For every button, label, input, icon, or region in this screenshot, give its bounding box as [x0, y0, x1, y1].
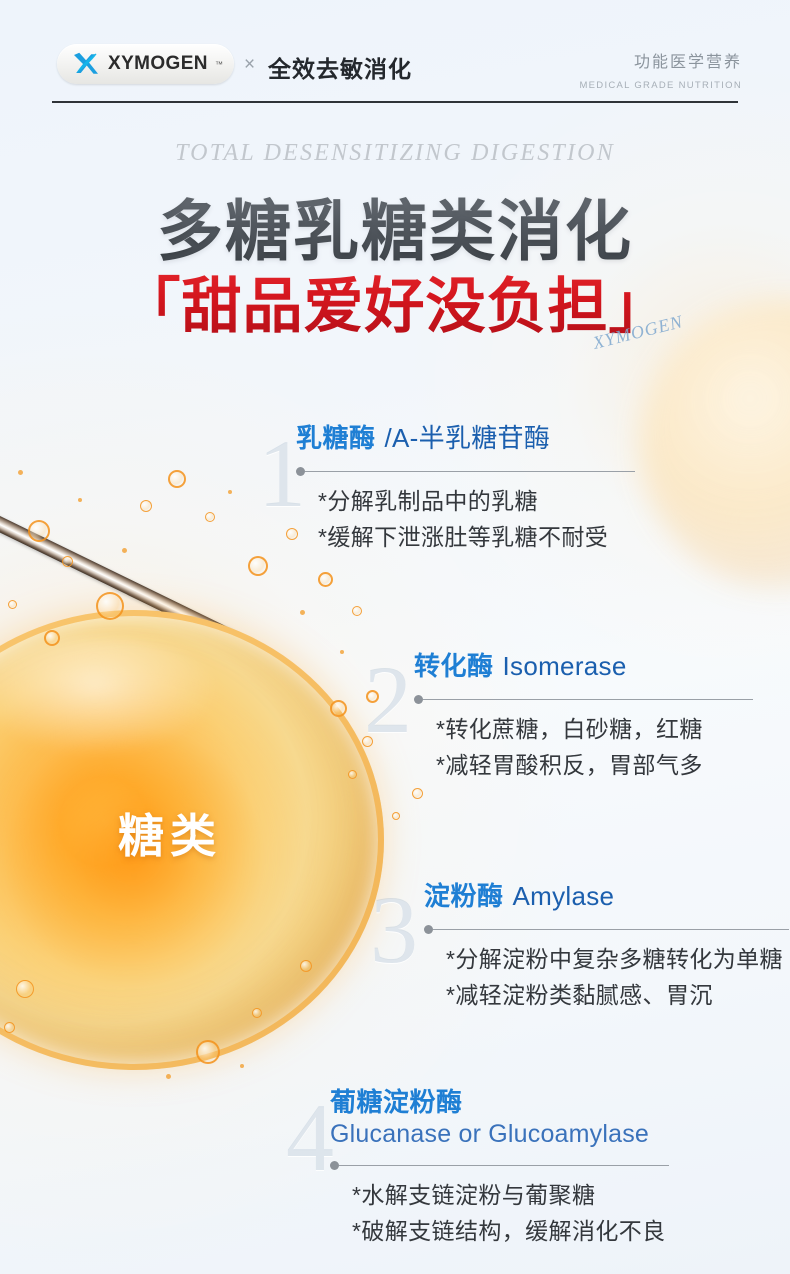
- bubble-decoration: [122, 548, 127, 553]
- enzyme-title-2: 转化酶 Isomerase: [414, 646, 703, 683]
- enzyme-title-1: 乳糖酶 /A-半乳糖苷酶: [296, 418, 608, 455]
- enzyme-divider-3: [424, 922, 783, 934]
- xymogen-logo-text: XYMOGEN: [108, 53, 208, 75]
- enzyme-bullet: *水解支链淀粉与葡聚糖: [352, 1178, 666, 1214]
- enzyme-bullet: *减轻胃酸积反，胃部气多: [436, 748, 703, 784]
- divider-line: [339, 1165, 669, 1166]
- bubble-decoration: [166, 1074, 171, 1079]
- bubble-decoration: [412, 788, 423, 799]
- honey-sphere-highlight: [0, 636, 220, 756]
- bubble-decoration: [4, 1022, 15, 1033]
- sphere-label: 糖类: [118, 800, 222, 866]
- header-divider: [52, 101, 738, 103]
- enzyme-title-cn-4: 葡糖淀粉酶: [330, 1082, 463, 1119]
- bubble-decoration: [300, 960, 312, 972]
- bubble-decoration: [248, 556, 268, 576]
- bubble-decoration: [168, 470, 186, 488]
- enzyme-bullet: *减轻淀粉类黏腻感、胃沉: [446, 978, 783, 1014]
- bullet-dot-icon: [414, 695, 423, 704]
- enzyme-number-4: 4: [286, 1090, 334, 1186]
- enzyme-title-cn-2: 转化酶: [414, 646, 494, 683]
- enzyme-bullets-1: *分解乳制品中的乳糖 *缓解下泄涨肚等乳糖不耐受: [318, 484, 608, 555]
- hero-eyebrow-en: TOTAL DESENSITIZING DIGESTION: [0, 140, 790, 167]
- bubble-decoration: [16, 980, 34, 998]
- bubble-decoration: [252, 1008, 262, 1018]
- bubble-decoration: [44, 630, 60, 646]
- divider-line: [305, 471, 635, 472]
- header-category-en: MEDICAL GRADE NUTRITION: [579, 80, 742, 91]
- bubble-decoration: [340, 650, 344, 654]
- enzyme-bullets-4: *水解支链淀粉与葡聚糖 *破解支链结构，缓解消化不良: [352, 1178, 666, 1249]
- enzyme-title-4: 葡糖淀粉酶: [330, 1082, 666, 1119]
- bubble-decoration: [300, 610, 305, 615]
- bullet-dot-icon: [424, 925, 433, 934]
- bullet-dot-icon: [330, 1161, 339, 1170]
- enzyme-block-3: 3 淀粉酶 Amylase *分解淀粉中复杂多糖转化为单糖 *减轻淀粉类黏腻感、…: [394, 876, 783, 1013]
- bubble-decoration: [96, 592, 124, 620]
- enzyme-title-cn-1: 乳糖酶: [296, 418, 376, 455]
- enzyme-number-2: 2: [364, 652, 412, 748]
- metal-rod-bottom-decoration: [0, 929, 167, 1046]
- enzyme-bullet: *分解乳制品中的乳糖: [318, 484, 608, 520]
- enzyme-title-en-4: Glucanase or Glucoamylase: [330, 1120, 666, 1149]
- bubble-decoration: [205, 512, 215, 522]
- bubble-decoration: [78, 498, 82, 502]
- enzyme-block-4: 4 葡糖淀粉酶 Glucanase or Glucoamylase *水解支链淀…: [300, 1082, 666, 1249]
- header-brand-tagline: 全效去敏消化: [268, 50, 412, 84]
- trademark-symbol: ™: [215, 60, 223, 69]
- xymogen-logo[interactable]: XYMOGEN ™: [57, 44, 234, 84]
- bubble-decoration: [330, 700, 347, 717]
- enzyme-title-en-3: Amylase: [513, 881, 615, 912]
- enzyme-title-cn-3: 淀粉酶: [424, 876, 504, 913]
- bubble-decoration: [196, 1040, 220, 1064]
- bullet-dot-icon: [296, 467, 305, 476]
- enzyme-title-3: 淀粉酶 Amylase: [424, 876, 783, 913]
- enzyme-divider-4: [330, 1158, 666, 1170]
- enzyme-bullets-3: *分解淀粉中复杂多糖转化为单糖 *减轻淀粉类黏腻感、胃沉: [446, 942, 783, 1013]
- bubble-decoration: [318, 572, 333, 587]
- enzyme-bullet: *缓解下泄涨肚等乳糖不耐受: [318, 520, 608, 556]
- xymogen-x-icon: [71, 51, 101, 77]
- enzyme-bullet: *破解支链结构，缓解消化不良: [352, 1214, 666, 1250]
- enzyme-block-1: 1 乳糖酶 /A-半乳糖苷酶 *分解乳制品中的乳糖 *缓解下泄涨肚等乳糖不耐受: [266, 418, 608, 555]
- bubble-decoration: [18, 470, 23, 475]
- separator-icon: ×: [244, 54, 255, 76]
- enzyme-divider-2: [414, 692, 703, 704]
- bubble-decoration: [348, 770, 357, 779]
- divider-line: [433, 929, 789, 930]
- bubble-decoration: [228, 490, 232, 494]
- divider-line: [423, 699, 753, 700]
- bubble-decoration: [8, 600, 17, 609]
- bubble-decoration: [240, 1064, 244, 1068]
- enzyme-block-2: 2 转化酶 Isomerase *转化蔗糖，白砂糖，红糖 *减轻胃酸积反，胃部气…: [384, 646, 703, 783]
- page-header: XYMOGEN ™ × 全效去敏消化 功能医学营养 MEDICAL GRADE …: [0, 0, 790, 110]
- bubble-decoration: [352, 606, 362, 616]
- enzyme-divider-1: [296, 464, 608, 476]
- bubble-decoration: [28, 520, 50, 542]
- promo-page: 糖类 XYMOGEN ™ × 全效去敏消化 功能医学营养 MEDICAL GRA…: [0, 0, 790, 1274]
- bubble-decoration: [392, 812, 400, 820]
- enzyme-bullet: *转化蔗糖，白砂糖，红糖: [436, 712, 703, 748]
- enzyme-title-en-2: Isomerase: [503, 651, 627, 682]
- enzyme-bullet: *分解淀粉中复杂多糖转化为单糖: [446, 942, 783, 978]
- header-category-cn: 功能医学营养: [634, 48, 742, 72]
- enzyme-number-3: 3: [370, 882, 418, 978]
- enzyme-title-en-1: /A-半乳糖苷酶: [385, 418, 551, 455]
- enzyme-bullets-2: *转化蔗糖，白砂糖，红糖 *减轻胃酸积反，胃部气多: [436, 712, 703, 783]
- bubble-decoration: [62, 556, 73, 567]
- bubble-decoration: [140, 500, 152, 512]
- metal-rod-top-decoration: [0, 505, 239, 646]
